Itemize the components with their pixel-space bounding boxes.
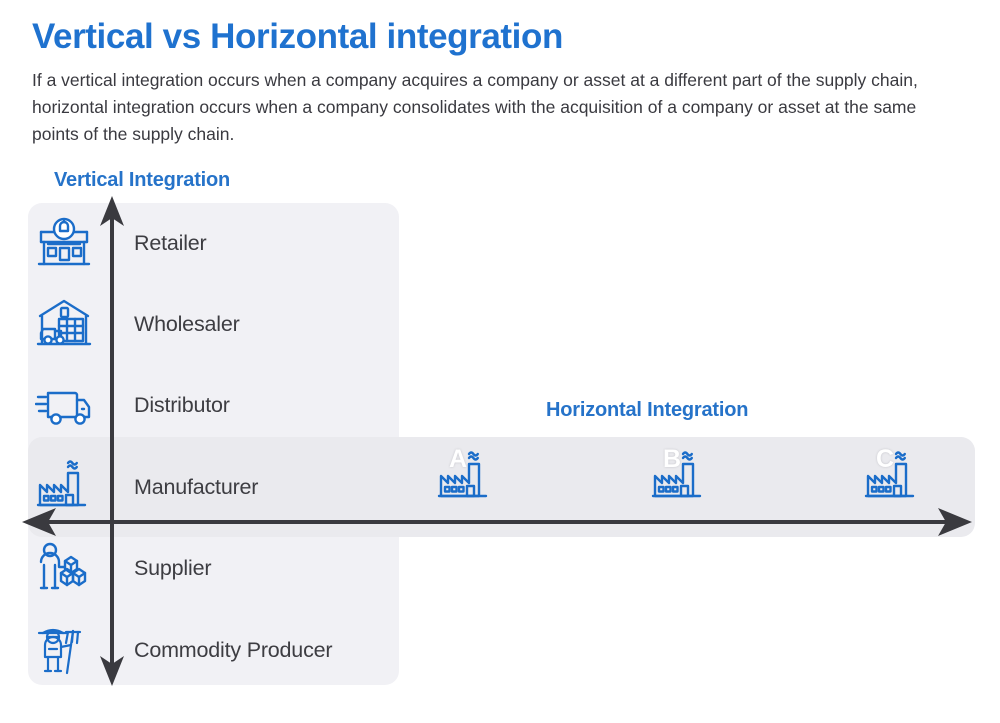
page-title: Vertical vs Horizontal integration xyxy=(32,18,962,57)
delivery-truck-icon xyxy=(30,376,98,434)
vertical-row-commodity-producer[interactable]: Commodity Producer xyxy=(30,614,400,686)
horizontal-integration-heading: Horizontal Integration xyxy=(546,399,748,422)
worker-boxes-icon xyxy=(30,539,98,597)
horizontal-firm-c[interactable]: C xyxy=(861,449,931,509)
header: Vertical vs Horizontal integration If a … xyxy=(32,18,962,148)
vertical-row-label: Commodity Producer xyxy=(134,638,332,663)
vertical-row-label: Wholesaler xyxy=(134,312,240,337)
vertical-row-distributor[interactable]: Distributor xyxy=(30,369,400,441)
factory-icon xyxy=(648,449,718,507)
horizontal-firm-b[interactable]: B xyxy=(648,449,718,509)
vertical-row-manufacturer[interactable]: Manufacturer xyxy=(30,451,400,523)
vertical-integration-heading: Vertical Integration xyxy=(54,169,230,192)
factory-icon xyxy=(861,449,931,507)
factory-icon xyxy=(434,449,504,507)
farmer-pitchfork-icon xyxy=(30,621,98,679)
vertical-row-label: Supplier xyxy=(134,556,211,581)
vertical-row-label: Retailer xyxy=(134,231,207,256)
storefront-icon xyxy=(30,214,98,272)
horizontal-firm-a[interactable]: A xyxy=(434,449,504,509)
page-subtitle: If a vertical integration occurs when a … xyxy=(32,67,947,148)
vertical-row-label: Distributor xyxy=(134,393,230,418)
vertical-row-retailer[interactable]: Retailer xyxy=(30,207,400,279)
warehouse-truck-icon xyxy=(30,295,98,353)
vertical-row-wholesaler[interactable]: Wholesaler xyxy=(30,288,400,360)
factory-icon xyxy=(30,458,98,516)
vertical-row-label: Manufacturer xyxy=(134,475,258,500)
vertical-row-supplier[interactable]: Supplier xyxy=(30,532,400,604)
